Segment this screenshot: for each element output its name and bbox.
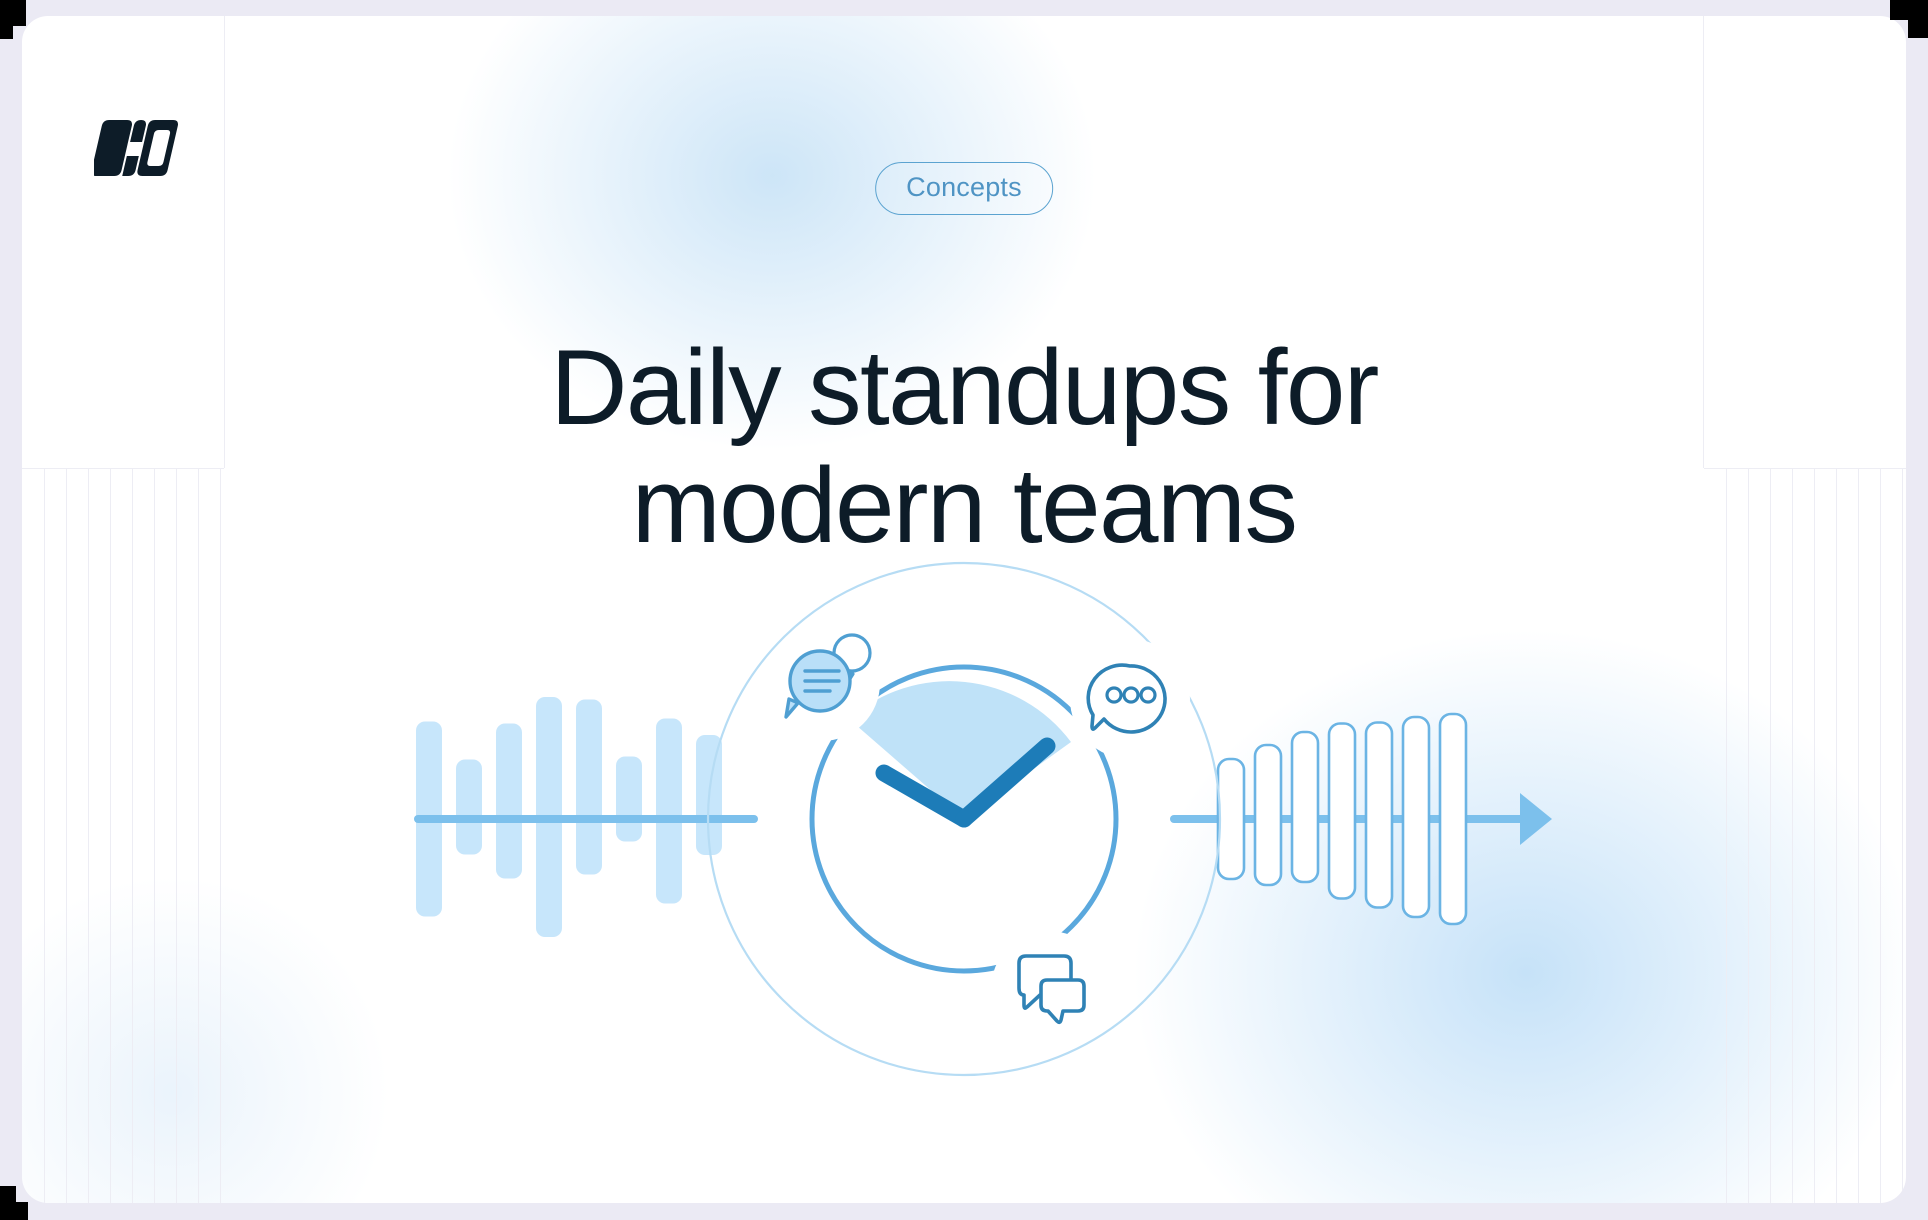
two-bubbles-icon [991, 931, 1107, 1047]
standup-timeline-illustration [22, 561, 1906, 1081]
typing-dots-bubble-icon [1070, 639, 1190, 759]
page-title: Daily standups for modern teams [324, 328, 1604, 566]
progression-bar [1440, 714, 1466, 924]
corner-registration-mark-bottom-left [0, 1202, 28, 1220]
waveform-bar [656, 719, 682, 904]
page-title-line-1: Daily standups for [324, 328, 1604, 447]
gutter-divider-right [1703, 16, 1704, 468]
waveform-bar [616, 757, 642, 842]
page-title-line-2: modern teams [324, 446, 1604, 565]
chat-lines-bubble-icon [764, 625, 880, 741]
progression-bar [1329, 724, 1355, 899]
progression-bar [1292, 732, 1318, 882]
concepts-badge[interactable]: Concepts [875, 162, 1053, 215]
waveform-bar [456, 760, 482, 855]
waveform-bar [576, 700, 602, 875]
hero-card: Concepts Daily standups for modern teams [22, 16, 1906, 1203]
progression-bar [1255, 745, 1281, 885]
logo-shape-2a [130, 120, 147, 142]
flatfile-logo[interactable] [94, 112, 202, 186]
timeline-axis-left [414, 815, 758, 823]
progression-bar [1403, 717, 1429, 917]
logo-shape-2b [122, 156, 139, 176]
screenshot-stage: Concepts Daily standups for modern teams [0, 0, 1928, 1220]
progression-bar [1218, 759, 1244, 879]
timeline-arrow [1520, 793, 1552, 845]
corner-registration-mark-top-left [0, 0, 26, 26]
progression-bars [1218, 714, 1466, 924]
gutter-divider-left [224, 16, 225, 468]
progression-bar [1366, 723, 1392, 908]
waveform-bar [496, 724, 522, 879]
corner-registration-mark-top-right [1890, 0, 1928, 20]
